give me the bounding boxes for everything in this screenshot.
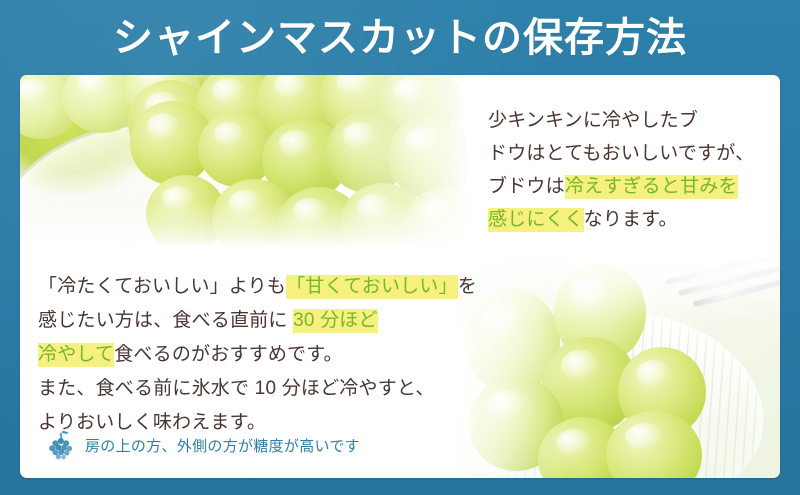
plain-text: 食べるのがおすすめです。: [114, 344, 343, 365]
paragraph-line: 少キンキンに冷やしたブ: [488, 104, 778, 137]
plain-text: ドウはとてもおいしいですが、: [488, 143, 754, 164]
plain-text: また、食べる前に氷水で 10 分ほど冷やすと、: [38, 378, 435, 399]
photo-fade-top: [450, 253, 780, 323]
paragraph-line: ドウはとてもおいしいですが、: [488, 137, 778, 170]
title-bar: シャインマスカットの保存方法: [0, 0, 800, 75]
grape-cluster-icon: [48, 430, 74, 460]
plain-text: 少キンキンに冷やしたブ: [488, 110, 698, 131]
footer-note: 房の上の方、外側の方が糖度が高いです: [48, 430, 360, 460]
photo-fade-bottom: [20, 201, 490, 255]
plain-text: なります。: [584, 209, 678, 230]
highlighted-text: 30 分ほど: [293, 309, 378, 333]
paragraph-line: 「冷たくておいしい」よりも「甘くておいしい」を: [38, 270, 488, 304]
grapes-fork-photo: [450, 253, 780, 478]
plain-text: を: [458, 276, 477, 297]
paragraph-line: 感じにくくなります。: [488, 203, 778, 236]
intro-paragraph: 少キンキンに冷やしたブドウはとてもおいしいですが、ブドウは冷えすぎると甘みを感じ…: [488, 104, 778, 236]
content-card: 少キンキンに冷やしたブドウはとてもおいしいですが、ブドウは冷えすぎると甘みを感じ…: [20, 75, 780, 478]
paragraph-line: また、食べる前に氷水で 10 分ほど冷やすと、: [38, 372, 488, 406]
plain-text: 「冷たくておいしい」よりも: [38, 276, 286, 297]
footer-note-text: 房の上の方、外側の方が糖度が高いです: [85, 435, 360, 456]
poster-root: シャインマスカットの保存方法: [0, 0, 800, 495]
plain-text: 感じたい方は、食べる直前に: [38, 310, 293, 331]
highlighted-text: 「甘くておいしい」: [286, 275, 458, 299]
highlighted-text: 感じにくく: [488, 208, 584, 232]
plain-text: ブドウは: [488, 176, 565, 197]
page-title: シャインマスカットの保存方法: [113, 18, 687, 58]
highlighted-text: 冷やして: [38, 343, 114, 367]
paragraph-line: 冷やして食べるのがおすすめです。: [38, 338, 488, 372]
grapes-bunch-photo: [20, 75, 490, 255]
paragraph-line: ブドウは冷えすぎると甘みを: [488, 170, 778, 203]
advice-paragraph: 「冷たくておいしい」よりも「甘くておいしい」を感じたい方は、食べる直前に 30 …: [38, 270, 488, 440]
highlighted-text: 冷えすぎると甘みを: [565, 175, 738, 199]
paragraph-line: 感じたい方は、食べる直前に 30 分ほど: [38, 304, 488, 338]
